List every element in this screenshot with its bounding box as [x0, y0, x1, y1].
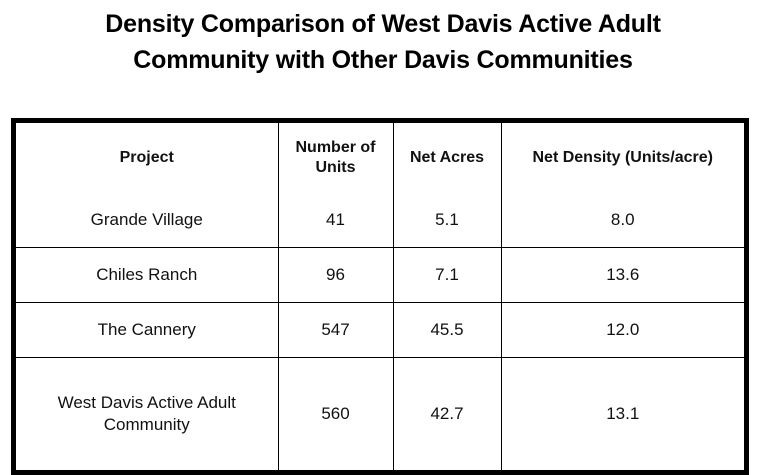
column-header-project: Project	[16, 123, 278, 193]
table-header-row: Project Number of Units Net Acres Net De…	[16, 123, 744, 193]
column-header-acres: Net Acres	[393, 123, 501, 193]
cell-units-value: 96	[283, 264, 389, 286]
cell-acres-value: 5.1	[398, 209, 497, 231]
cell-units: 547	[278, 303, 393, 358]
cell-acres-value: 7.1	[398, 264, 497, 286]
cell-project-value: The Cannery	[20, 319, 274, 341]
table-row: West Davis Active Adult Community 560 42…	[16, 358, 744, 471]
cell-density-value: 13.1	[506, 403, 741, 425]
cell-acres: 45.5	[393, 303, 501, 358]
cell-project: Chiles Ranch	[16, 248, 278, 303]
page-root: Density Comparison of West Davis Active …	[0, 0, 766, 472]
density-comparison-table: Project Number of Units Net Acres Net De…	[11, 118, 749, 475]
table-row: The Cannery 547 45.5 12.0	[16, 303, 744, 358]
cell-project: West Davis Active Adult Community	[16, 358, 278, 471]
cell-units-value: 560	[283, 403, 389, 425]
table-row: Chiles Ranch 96 7.1 13.6	[16, 248, 744, 303]
cell-acres: 5.1	[393, 193, 501, 248]
cell-density: 8.0	[501, 193, 744, 248]
cell-project-value: Chiles Ranch	[20, 264, 274, 286]
cell-density-value: 13.6	[506, 264, 741, 286]
density-table: Project Number of Units Net Acres Net De…	[16, 123, 744, 470]
cell-acres: 42.7	[393, 358, 501, 471]
cell-density: 13.6	[501, 248, 744, 303]
cell-units-value: 547	[283, 319, 389, 341]
cell-density-value: 12.0	[506, 319, 741, 341]
cell-units-value: 41	[283, 209, 389, 231]
cell-project: The Cannery	[16, 303, 278, 358]
table-body: Grande Village 41 5.1 8.0 Chiles Ranch	[16, 193, 744, 470]
page-title-line-2: Community with Other Davis Communities	[0, 42, 766, 78]
column-header-acres-label: Net Acres	[398, 148, 497, 168]
cell-acres-value: 45.5	[398, 319, 497, 341]
cell-units: 560	[278, 358, 393, 471]
cell-project-value: Grande Village	[20, 209, 274, 231]
cell-project: Grande Village	[16, 193, 278, 248]
cell-density: 13.1	[501, 358, 744, 471]
cell-density: 12.0	[501, 303, 744, 358]
cell-units: 41	[278, 193, 393, 248]
column-header-density-label: Net Density (Units/acre)	[506, 148, 741, 168]
table-row: Grande Village 41 5.1 8.0	[16, 193, 744, 248]
cell-project-value: West Davis Active Adult Community	[20, 392, 274, 436]
column-header-units-label: Number of Units	[283, 138, 389, 178]
column-header-units: Number of Units	[278, 123, 393, 193]
column-header-project-label: Project	[20, 148, 274, 168]
cell-acres-value: 42.7	[398, 403, 497, 425]
cell-density-value: 8.0	[506, 209, 741, 231]
cell-units: 96	[278, 248, 393, 303]
page-title-line-1: Density Comparison of West Davis Active …	[0, 6, 766, 42]
cell-acres: 7.1	[393, 248, 501, 303]
column-header-density: Net Density (Units/acre)	[501, 123, 744, 193]
page-title: Density Comparison of West Davis Active …	[0, 6, 766, 78]
table-header: Project Number of Units Net Acres Net De…	[16, 123, 744, 193]
